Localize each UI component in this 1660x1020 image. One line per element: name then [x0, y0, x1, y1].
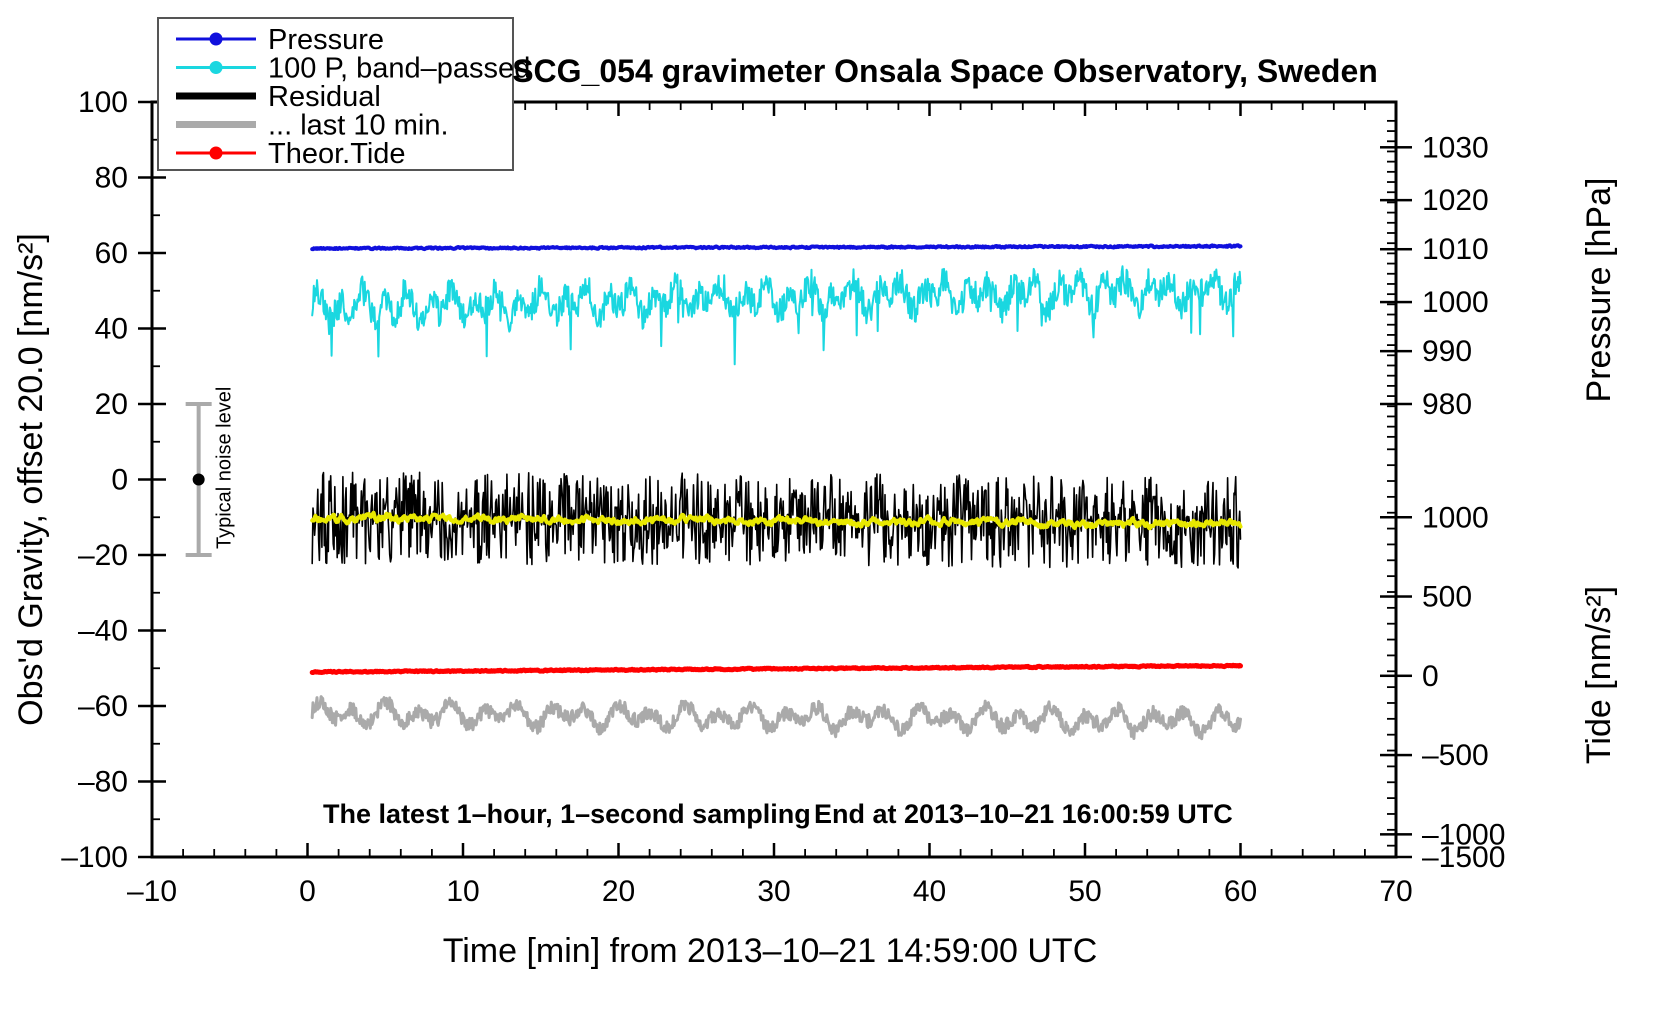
y-tick-label: –40: [78, 615, 128, 648]
legend-label-4[interactable]: Theor.Tide: [268, 138, 406, 170]
y-tick-label: 100: [78, 86, 128, 119]
x-tick-label: 40: [913, 875, 946, 908]
y-axis-title: Obs'd Gravity, offset 20.0 [nm/s²]: [12, 233, 50, 726]
x-tick-label: 30: [757, 875, 790, 908]
legend-marker-0: [210, 33, 223, 46]
plot-frame: [152, 102, 1396, 857]
x-tick-label: 50: [1068, 875, 1101, 908]
y-tick-label: –60: [78, 690, 128, 723]
pressure-tick-label: 990: [1422, 335, 1472, 368]
y-tick-label: –100: [61, 841, 128, 874]
pressure-axis-title: Pressure [hPa]: [1580, 178, 1618, 403]
tide-tick-label: 0: [1422, 660, 1439, 693]
pressure-tick-label: 1000: [1422, 286, 1489, 319]
tide-axis-title: Tide [nm/s²]: [1580, 586, 1618, 764]
legend-label-1[interactable]: 100 P, band–passed: [268, 53, 530, 85]
tide-tick-label: –500: [1422, 739, 1489, 772]
legend-label-3[interactable]: ... last 10 min.: [268, 110, 449, 142]
plot-area: [152, 102, 1396, 857]
x-tick-label: 0: [299, 875, 316, 908]
pressure-tick-label: 1010: [1422, 233, 1489, 266]
y-tick-label: 40: [95, 313, 128, 346]
x-tick-label: –10: [127, 875, 177, 908]
y-tick-label: –80: [78, 766, 128, 799]
noise-center-dot: [193, 474, 205, 486]
chart-legend[interactable]: Pressure100 P, band–passedResidual... la…: [158, 18, 530, 170]
chart-title: SCG_054 gravimeter Onsala Space Observat…: [512, 53, 1378, 89]
y-tick-label: 80: [95, 162, 128, 195]
y-tick-label: 60: [95, 237, 128, 270]
tide-tick-label: 500: [1422, 581, 1472, 614]
tide-tick-label: –1500: [1422, 841, 1505, 874]
x-tick-label: 20: [602, 875, 635, 908]
legend-label-0[interactable]: Pressure: [268, 24, 384, 56]
legend-label-2[interactable]: Residual: [268, 81, 381, 113]
x-tick-label: 60: [1224, 875, 1257, 908]
pressure-tick-label: 1030: [1422, 131, 1489, 164]
chart-page: –10010203040506070–100–80–60–40–20020406…: [0, 0, 1660, 1020]
x-axis-title: Time [min] from 2013–10–21 14:59:00 UTC: [443, 932, 1098, 970]
y-tick-label: –20: [78, 539, 128, 572]
pressure-tick-label: 1020: [1422, 184, 1489, 217]
legend-marker-4: [210, 147, 223, 160]
gravimeter-chart: –10010203040506070–100–80–60–40–20020406…: [0, 0, 1660, 1020]
pressure-tick-label: 980: [1422, 388, 1472, 421]
x-tick-label: 70: [1379, 875, 1412, 908]
sampling-note: The latest 1–hour, 1–second sampling: [323, 799, 811, 829]
tide-tick-label: 1000: [1422, 501, 1489, 534]
legend-marker-1: [210, 61, 223, 74]
x-tick-label: 10: [446, 875, 479, 908]
y-tick-label: 0: [111, 464, 128, 497]
end-time-note: End at 2013–10–21 16:00:59 UTC: [814, 799, 1233, 829]
y-tick-label: 20: [95, 388, 128, 421]
noise-level-label: Typical noise level: [214, 387, 236, 549]
